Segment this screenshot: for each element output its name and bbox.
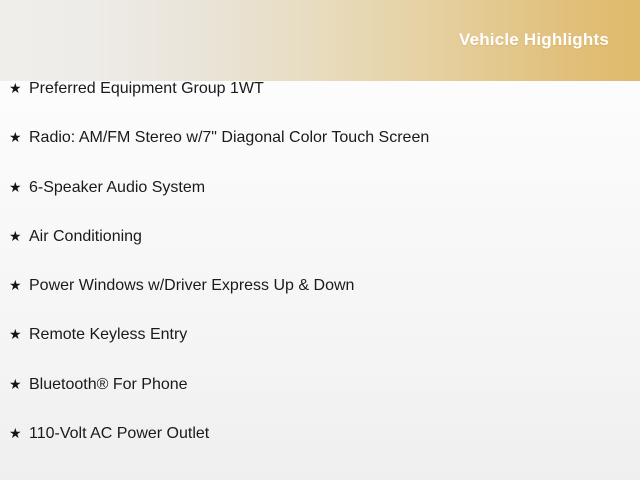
list-item: ★ 110-Volt AC Power Outlet xyxy=(0,426,640,475)
star-icon: ★ xyxy=(9,377,29,391)
vehicle-highlights-list: ★ Preferred Equipment Group 1WT ★ Radio:… xyxy=(0,81,640,475)
highlight-label: Radio: AM/FM Stereo w/7" Diagonal Color … xyxy=(29,130,429,146)
vehicle-highlights-panel: Vehicle Highlights ★ Preferred Equipment… xyxy=(0,0,640,480)
star-icon: ★ xyxy=(9,130,29,144)
highlight-label: Power Windows w/Driver Express Up & Down xyxy=(29,278,354,294)
list-item: ★ Air Conditioning xyxy=(0,229,640,278)
highlight-label: Preferred Equipment Group 1WT xyxy=(29,81,264,97)
star-icon: ★ xyxy=(9,81,29,95)
highlight-label: 110-Volt AC Power Outlet xyxy=(29,426,209,442)
star-icon: ★ xyxy=(9,180,29,194)
panel-header-banner: Vehicle Highlights xyxy=(0,0,640,81)
highlight-label: 6-Speaker Audio System xyxy=(29,180,205,196)
highlight-label: Bluetooth® For Phone xyxy=(29,377,188,393)
star-icon: ★ xyxy=(9,229,29,243)
list-item: ★ Bluetooth® For Phone xyxy=(0,377,640,426)
star-icon: ★ xyxy=(9,327,29,341)
list-item: ★ 6-Speaker Audio System xyxy=(0,180,640,229)
star-icon: ★ xyxy=(9,278,29,292)
star-icon: ★ xyxy=(9,426,29,440)
list-item: ★ Power Windows w/Driver Express Up & Do… xyxy=(0,278,640,327)
highlight-label: Remote Keyless Entry xyxy=(29,327,187,343)
list-item: ★ Preferred Equipment Group 1WT xyxy=(0,81,640,130)
highlight-label: Air Conditioning xyxy=(29,229,142,245)
list-item: ★ Radio: AM/FM Stereo w/7" Diagonal Colo… xyxy=(0,130,640,179)
list-item: ★ Remote Keyless Entry xyxy=(0,327,640,376)
panel-title: Vehicle Highlights xyxy=(459,31,609,48)
